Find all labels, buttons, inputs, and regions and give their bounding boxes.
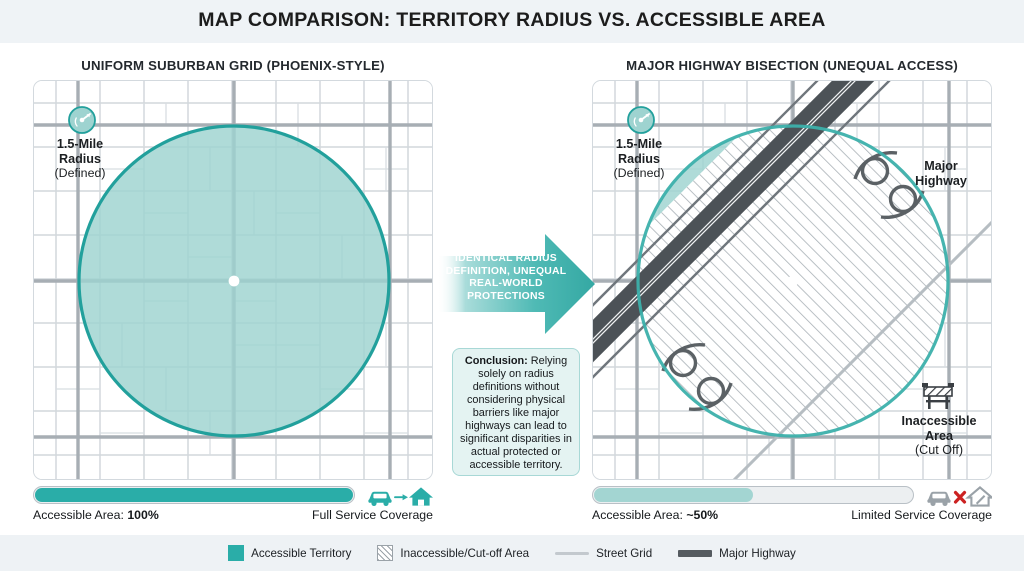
left-bar-caption-value: 100% — [127, 508, 158, 522]
conclusion-lead: Conclusion: — [465, 355, 528, 367]
left-accessible-area-bar-row: Accessible Area: 100% Full Service Cover… — [33, 484, 433, 528]
arrow-line2: DEFINITION, UNEQUAL — [446, 266, 567, 277]
legend-label-1: Inaccessible/Cut-off Area — [400, 547, 529, 560]
right-map-panel[interactable]: 1.5-Mile Radius (Defined) Major Highway — [592, 80, 992, 480]
arrow-line4: PROTECTIONS — [467, 291, 545, 302]
street-line-swatch — [555, 552, 589, 555]
right-bar-caption-label: Accessible Area: — [592, 508, 683, 522]
inaccessible-label-line2: Area — [925, 429, 953, 443]
page-title: MAP COMPARISON: TERRITORY RADIUS VS. ACC… — [0, 9, 1024, 32]
major-highway-label-line1: Major — [924, 159, 958, 173]
left-bar-caption: Accessible Area: 100% — [33, 508, 159, 522]
radius-label-line2: Radius — [59, 152, 101, 166]
radius-badge-left — [67, 105, 97, 135]
legend-label-3: Major Highway — [719, 547, 796, 560]
center-arrow-callout: IDENTICAL RADIUS DEFINITION, UNEQUAL REA… — [437, 232, 597, 336]
conclusion-body: Relying solely on radius definitions wit… — [460, 355, 572, 471]
major-highway-label-line2: Highway — [915, 174, 967, 188]
legend-item-inaccessible: Inaccessible/Cut-off Area — [377, 545, 529, 561]
conclusion-box: Conclusion: Relying solely on radius def… — [452, 348, 580, 476]
radius-label-line1: 1.5-Mile — [616, 137, 662, 151]
car-arrow-house-icon — [367, 484, 433, 508]
car-cross-house-icon — [926, 484, 992, 508]
left-coverage-text: Full Service Coverage — [312, 508, 433, 522]
infographic-root: MAP COMPARISON: TERRITORY RADIUS VS. ACC… — [0, 0, 1024, 571]
hatched-swatch — [377, 545, 393, 561]
right-coverage-text: Limited Service Coverage — [851, 508, 992, 522]
conclusion-text: Conclusion: Relying solely on radius def… — [459, 355, 573, 472]
arrow-line1: IDENTICAL RADIUS — [455, 253, 557, 264]
radius-label-left: 1.5-Mile Radius (Defined) — [33, 137, 134, 181]
center-arrow-text: IDENTICAL RADIUS DEFINITION, UNEQUAL REA… — [443, 253, 569, 304]
major-highway-label: Major Highway — [898, 159, 984, 188]
inaccessible-label-line1: Inaccessible — [902, 414, 977, 428]
radius-label-right: 1.5-Mile Radius (Defined) — [592, 137, 693, 181]
solid-teal-swatch — [228, 545, 244, 561]
barricade-icon — [916, 381, 960, 411]
legend-label-2: Street Grid — [596, 547, 652, 560]
right-bar-caption-value: ~50% — [686, 508, 718, 522]
legend-item-major-highway: Major Highway — [678, 547, 796, 560]
radius-arrow-icon — [626, 105, 656, 135]
legend-strip: Accessible Territory Inaccessible/Cut-of… — [0, 535, 1024, 571]
radius-arrow-icon — [67, 105, 97, 135]
left-progress-fill — [35, 488, 353, 502]
left-progress-track[interactable] — [33, 486, 355, 504]
radius-label-line3: (Defined) — [614, 166, 665, 180]
radius-label-line3: (Defined) — [55, 166, 106, 180]
left-panel-heading: UNIFORM SUBURBAN GRID (PHOENIX-STYLE) — [33, 58, 433, 73]
right-progress-track[interactable] — [592, 486, 914, 504]
right-progress-fill — [594, 488, 753, 502]
inaccessible-area-label: Inaccessible Area (Cut Off) — [885, 414, 992, 458]
legend-items: Accessible Territory Inaccessible/Cut-of… — [0, 535, 1024, 571]
highway-line-swatch — [678, 550, 712, 557]
right-panel-heading: MAJOR HIGHWAY BISECTION (UNEQUAL ACCESS) — [592, 58, 992, 73]
legend-label-0: Accessible Territory — [251, 547, 351, 560]
right-bar-caption: Accessible Area: ~50% — [592, 508, 718, 522]
legend-item-street-grid: Street Grid — [555, 547, 652, 560]
arrow-line3: REAL-WORLD — [469, 278, 543, 289]
radius-badge-right — [626, 105, 656, 135]
left-bar-caption-label: Accessible Area: — [33, 508, 124, 522]
left-map-panel[interactable]: 1.5-Mile Radius (Defined) — [33, 80, 433, 480]
title-band: MAP COMPARISON: TERRITORY RADIUS VS. ACC… — [0, 0, 1024, 43]
radius-label-line1: 1.5-Mile — [57, 137, 103, 151]
legend-item-accessible: Accessible Territory — [228, 545, 351, 561]
right-accessible-area-bar-row: Accessible Area: ~50% Limited Service Co… — [592, 484, 992, 528]
radius-label-line2: Radius — [618, 152, 660, 166]
inaccessible-label-line3: (Cut Off) — [915, 443, 963, 457]
